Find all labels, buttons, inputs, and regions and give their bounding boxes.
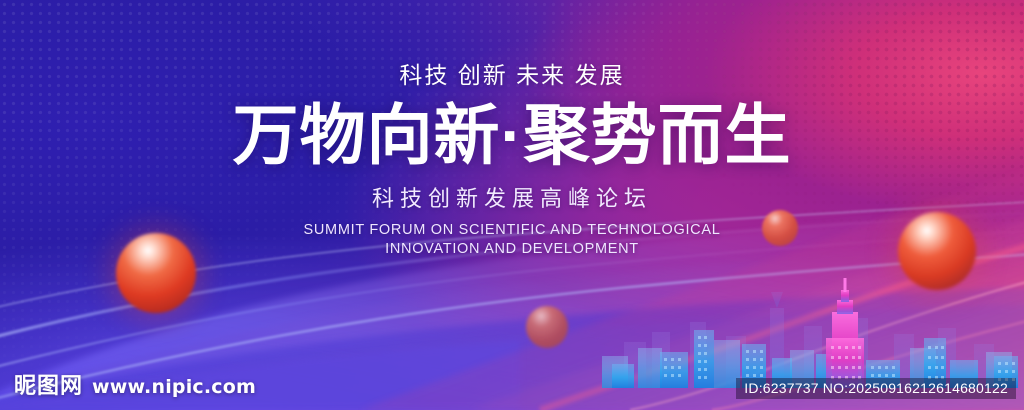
banner-text-block: 科技 创新 未来 发展 万物向新·聚势而生 科技创新发展高峰论坛 SUMMIT … <box>0 0 1024 410</box>
watermark-id-text: ID:6237737 NO:20250916212614680122 <box>736 378 1016 399</box>
banner-subline: 科技创新发展高峰论坛 <box>372 181 652 213</box>
watermark-brand: 昵图网 www.nipic.com <box>14 368 256 400</box>
banner-english-line-1: SUMMIT FORUM ON SCIENTIFIC AND TECHNOLOG… <box>304 222 721 238</box>
banner-english-line-2: INNOVATION AND DEVELOPMENT <box>385 241 639 257</box>
banner-kicker: 科技 创新 未来 发展 <box>399 56 624 90</box>
promo-banner: 科技 创新 未来 发展 万物向新·聚势而生 科技创新发展高峰论坛 SUMMIT … <box>0 0 1024 410</box>
banner-headline: 万物向新·聚势而生 <box>233 100 792 171</box>
watermark-url-text: www.nipic.com <box>92 376 256 398</box>
watermark-logo-text: 昵图网 <box>14 368 83 400</box>
